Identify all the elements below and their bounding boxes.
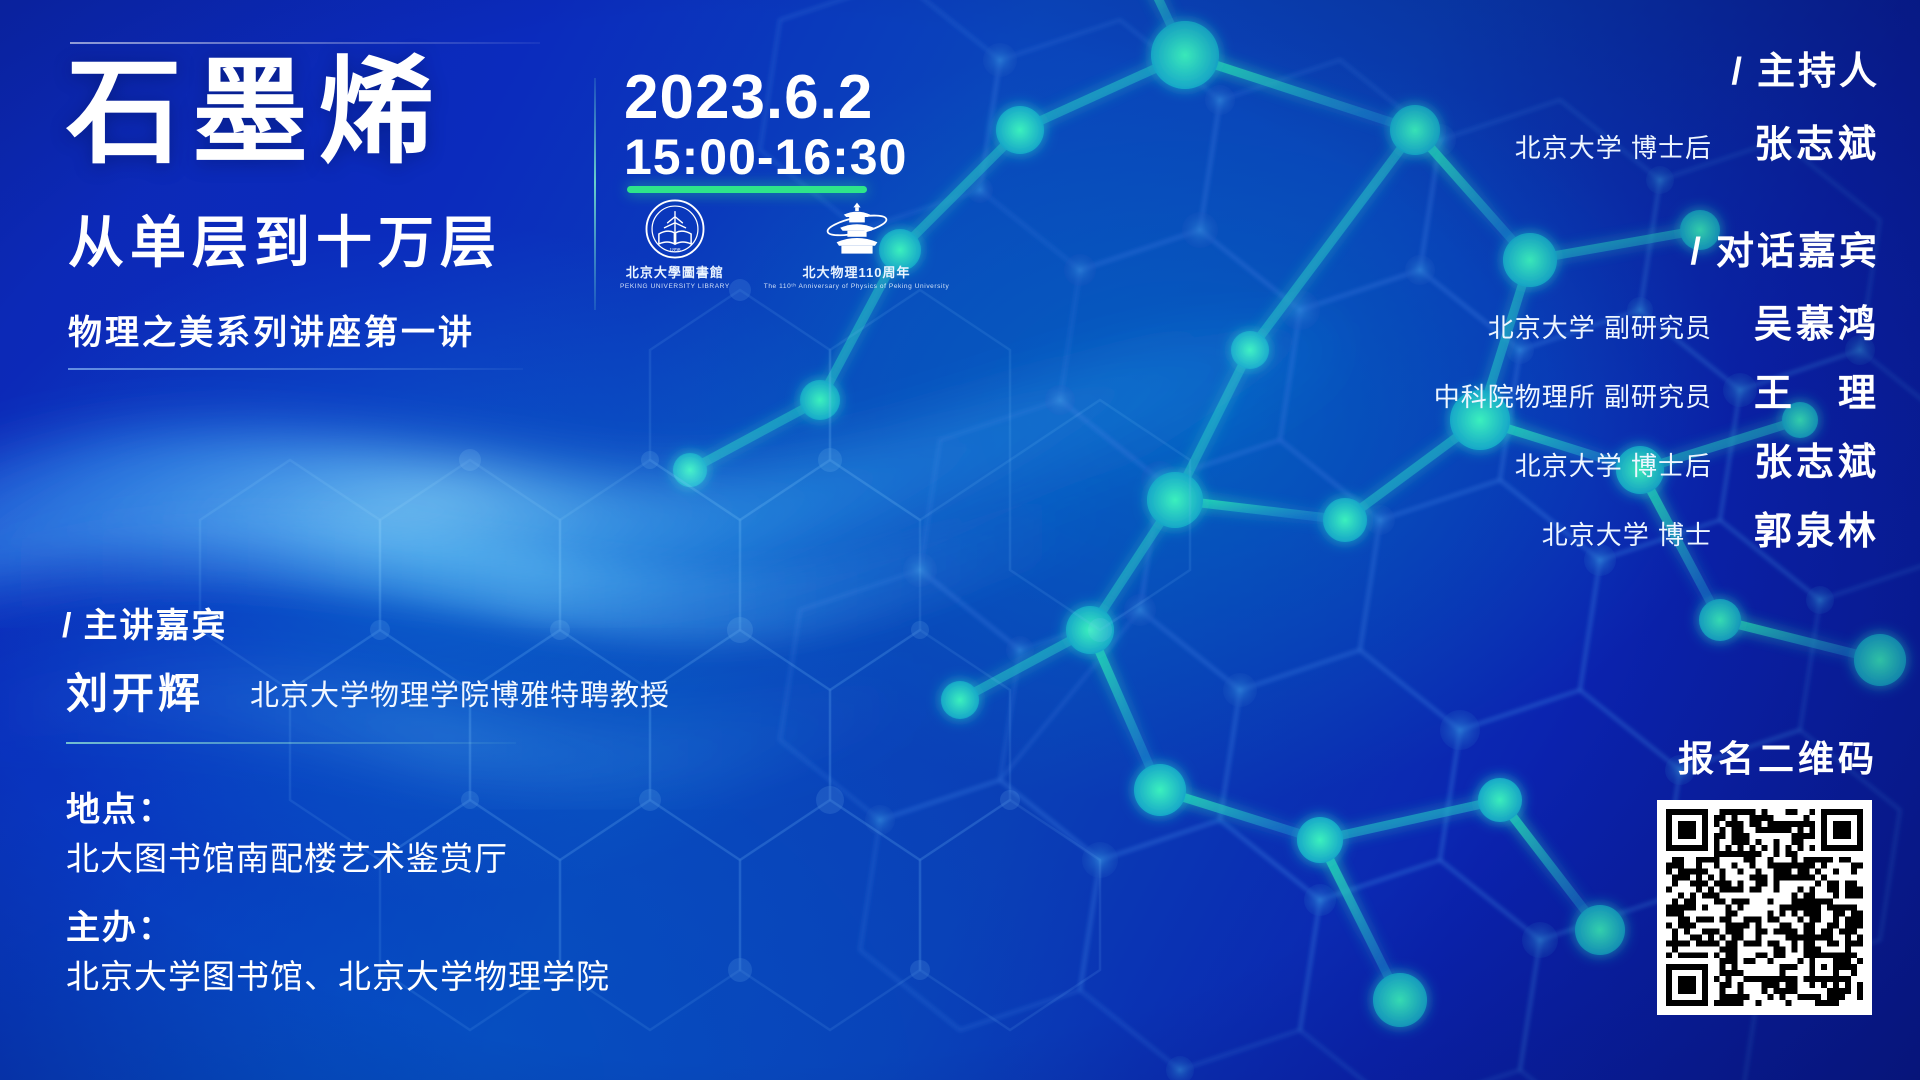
panelist-affiliation: 北京大学 博士后: [1515, 446, 1712, 483]
host-name: 张志斌: [1730, 113, 1880, 168]
pku-library-logo: 1898 北京大學圖書館 PEKING UNIVERSITY LIBRARY: [620, 198, 730, 290]
host-heading-text: 主持人: [1757, 51, 1880, 93]
host-heading: /主持人: [1240, 40, 1880, 95]
speaker-name: 刘开辉: [66, 660, 204, 721]
panel-section: /对话嘉宾 北京大学 副研究员 吴慕鸿 中科院物理所 副研究员 王 理 北京大学…: [1240, 220, 1880, 555]
registration-qr-code[interactable]: [1657, 800, 1872, 1015]
host-row: 北京大学 博士后 张志斌: [1240, 113, 1880, 168]
pku-library-name-en: PEKING UNIVERSITY LIBRARY: [620, 283, 730, 290]
host-slash: /: [1731, 51, 1745, 93]
speaker-section-heading: /主讲嘉宾: [62, 598, 227, 647]
panelist-row: 中科院物理所 副研究员 王 理: [1240, 362, 1880, 417]
page-subtitle: 从单层到十万层: [68, 198, 502, 279]
boya-pagoda-icon: [821, 198, 893, 260]
qr-label: 报名二维码: [1678, 730, 1878, 782]
host-affiliation: 北京大学 博士后: [1515, 128, 1712, 165]
panelist-row: 北京大学 博士后 张志斌: [1240, 431, 1880, 486]
panelist-affiliation: 北京大学 副研究员: [1488, 308, 1712, 345]
logo-group: 1898 北京大學圖書館 PEKING UNIVERSITY LIBRARY: [620, 198, 920, 290]
panelist-name: 吴慕鸿: [1730, 293, 1880, 348]
panel-slash: /: [1690, 231, 1704, 273]
panelist-row: 北京大学 博士 郭泉林: [1240, 500, 1880, 555]
organizer-value: 北京大学图书馆、北京大学物理学院: [66, 950, 610, 998]
poster-content: 石墨烯 从单层到十万层 物理之美系列讲座第一讲 2023.6.2 15:00-1…: [0, 0, 1920, 1080]
panelist-affiliation: 北京大学 博士: [1542, 515, 1712, 552]
event-time: 15:00-16:30: [624, 128, 907, 186]
pku-library-seal-icon: 1898: [644, 198, 706, 260]
series-label: 物理之美系列讲座第一讲: [68, 305, 475, 354]
panel-heading: /对话嘉宾: [1240, 220, 1880, 275]
panelist-row: 北京大学 副研究员 吴慕鸿: [1240, 293, 1880, 348]
panelist-name: 郭泉林: [1730, 500, 1880, 555]
speaker-label-text: 主讲嘉宾: [83, 607, 227, 645]
host-section: /主持人 北京大学 博士后 张志斌: [1240, 40, 1880, 168]
pku-physics-name-cn: 北大物理110周年: [803, 262, 911, 281]
panelist-affiliation: 中科院物理所 副研究员: [1434, 377, 1712, 414]
speaker-slash: /: [62, 607, 73, 645]
page-title: 石墨烯: [66, 52, 444, 177]
accent-bar: [627, 186, 867, 193]
panelist-name: 张志斌: [1730, 431, 1880, 486]
series-rule: [68, 368, 523, 370]
seal-year: 1898: [669, 247, 680, 253]
guests-column: /主持人 北京大学 博士后 张志斌 /对话嘉宾 北京大学 副研究员 吴慕鸿 中科…: [1240, 40, 1880, 569]
panel-heading-text: 对话嘉宾: [1716, 231, 1880, 273]
pku-physics-name-en: The 110ᵗʰ Anniversary of Physics of Peki…: [764, 283, 950, 290]
vertical-divider: [594, 78, 596, 310]
poster-canvas: 石墨烯 从单层到十万层 物理之美系列讲座第一讲 2023.6.2 15:00-1…: [0, 0, 1920, 1080]
qr-code-image: [1666, 809, 1863, 1006]
panelist-name: 王 理: [1730, 362, 1880, 417]
section-divider: [66, 742, 516, 744]
organizer-label: 主办：: [66, 900, 174, 949]
venue-label: 地点：: [66, 782, 174, 831]
event-date: 2023.6.2: [624, 62, 873, 133]
pku-library-name-cn: 北京大學圖書館: [626, 262, 724, 281]
pku-physics-110-logo: 北大物理110周年 The 110ᵗʰ Anniversary of Physi…: [764, 198, 950, 290]
venue-value: 北大图书馆南配楼艺术鉴赏厅: [66, 832, 508, 880]
speaker-affiliation: 北京大学物理学院博雅特聘教授: [250, 672, 670, 714]
title-top-rule: [70, 42, 540, 44]
